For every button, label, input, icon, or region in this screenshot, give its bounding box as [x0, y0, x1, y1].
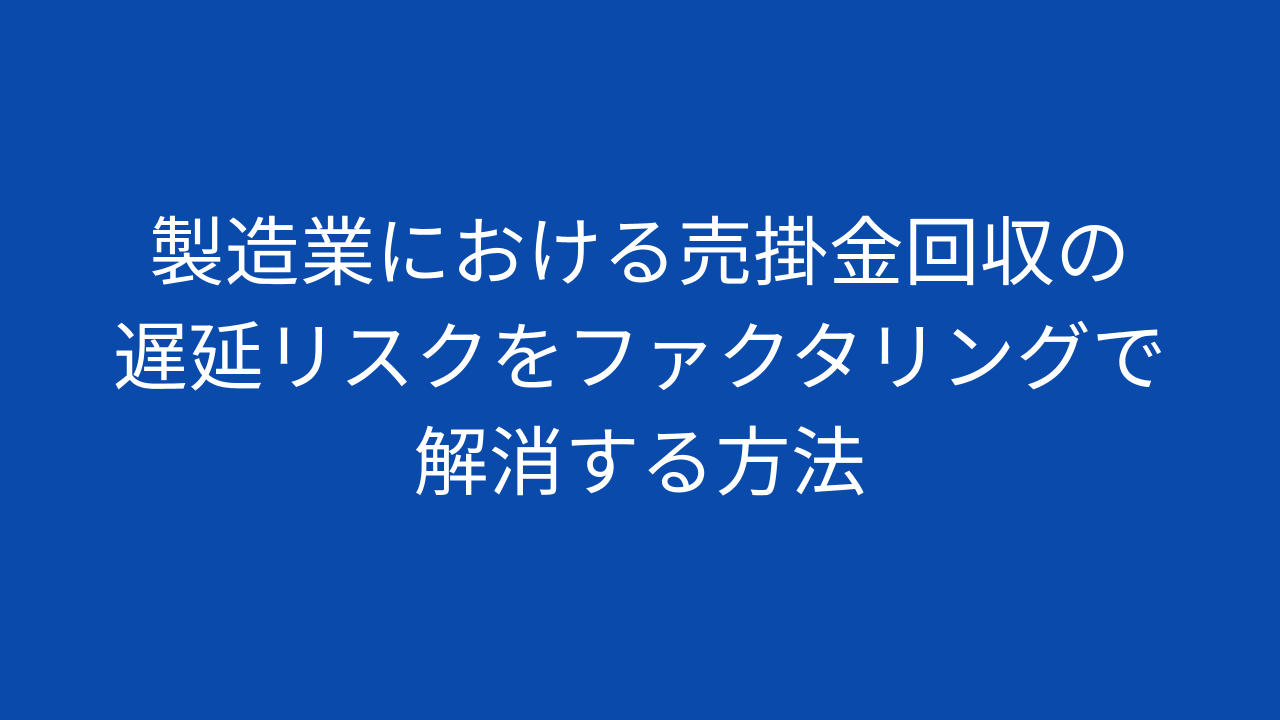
title-line-2: 遅延リスクをファクタリングで [40, 306, 1240, 411]
title-slide: 製造業における売掛金回収の 遅延リスクをファクタリングで 解消する方法 [0, 0, 1280, 720]
title-line-3: 解消する方法 [40, 411, 1240, 516]
title-line-1: 製造業における売掛金回収の [40, 201, 1240, 306]
page-title: 製造業における売掛金回収の 遅延リスクをファクタリングで 解消する方法 [0, 201, 1280, 516]
